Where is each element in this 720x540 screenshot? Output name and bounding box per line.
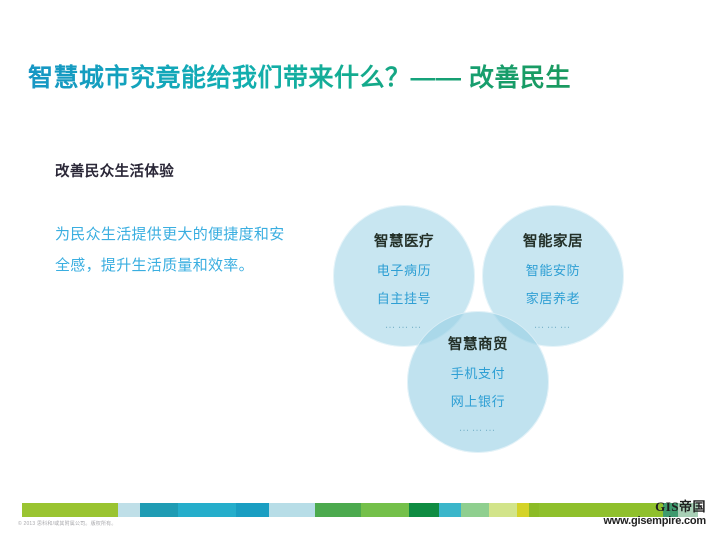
venn-circle-ellipsis: ………: [407, 422, 549, 434]
section-subheading: 改善民众生活体验: [55, 160, 295, 181]
venn-circle-item: 电子病历: [333, 260, 475, 279]
color-bar-segment: [22, 503, 118, 517]
color-bar-segment: [461, 503, 489, 517]
venn-circle-title: 智慧商贸: [407, 333, 549, 354]
venn-circle-title: 智能家居: [482, 230, 624, 251]
venn-circle-smart-commerce[interactable]: 智慧商贸 手机支付 网上银行 ………: [407, 311, 549, 453]
color-bar-segment: [409, 503, 439, 517]
color-bar-segment: [118, 503, 140, 517]
brand-url-label: www.gisempire.com: [603, 515, 706, 528]
color-bar-segment: [361, 503, 409, 517]
left-text-column: 改善民众生活体验 为民众生活提供更大的便捷度和安全感，提升生活质量和效率。: [55, 160, 295, 281]
venn-circle-item: 网上银行: [407, 391, 549, 410]
color-bar-segment: [315, 503, 361, 517]
color-bar-segment: [178, 503, 236, 517]
decorative-color-bar: [22, 503, 698, 517]
brand-name-label: GIS帝国: [603, 500, 706, 514]
color-bar-segment: [236, 503, 269, 517]
color-bar-segment: [269, 503, 315, 517]
venn-circle-title: 智慧医疗: [333, 230, 475, 251]
page-title: 智慧城市究竟能给我们带来什么？—— 改善民生: [28, 58, 571, 94]
venn-circle-item: 家居养老: [482, 288, 624, 307]
color-bar-segment: [439, 503, 461, 517]
copyright-text: © 2013 思科和/或其附属公司。版权所有。: [18, 520, 117, 527]
venn-circle-item: 手机支付: [407, 363, 549, 382]
color-bar-segment: [489, 503, 517, 517]
color-bar-segment: [517, 503, 529, 517]
venn-circle-item: 自主挂号: [333, 288, 475, 307]
venn-diagram: 智慧医疗 电子病历 自主挂号 ……… 智能家居 智能安防 家居养老 ……… 智慧…: [330, 200, 630, 455]
brand-logo: GIS帝国 www.gisempire.com: [603, 500, 706, 528]
color-bar-segment: [140, 503, 178, 517]
color-bar-segment: [529, 503, 539, 517]
section-body-text: 为民众生活提供更大的便捷度和安全感，提升生活质量和效率。: [55, 219, 295, 281]
venn-circle-item: 智能安防: [482, 260, 624, 279]
